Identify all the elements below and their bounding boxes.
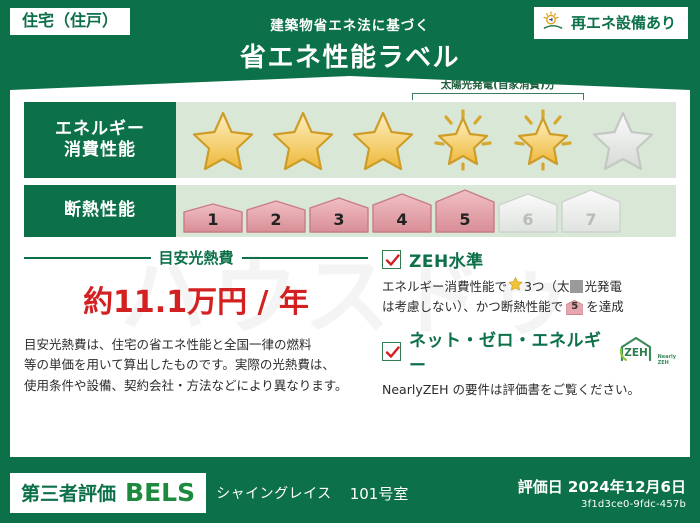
utility-cost-note-line2: 等の単価を用いて算出したものです。実際の光熱費は、 — [24, 355, 368, 375]
housing-type-badge: 住宅（住戸） — [10, 8, 130, 35]
check-icon — [385, 345, 400, 360]
content-panel: ハウスドゥ エネルギー 消費性能 太陽光発電(自家消費)分 — [10, 76, 690, 457]
zeh-standard-checkbox[interactable] — [382, 250, 401, 269]
star-3 — [344, 105, 422, 175]
utility-cost-block: 目安光熱費 約11.1万円 / 年 目安光熱費は、住宅の省エネ性能と全国一律の燃… — [24, 247, 376, 409]
energy-stars-area: 太陽光発電(自家消費)分 — [176, 102, 676, 178]
bels-badge: 第三者評価 BELS — [10, 473, 206, 513]
page-title: 省エネ性能ラベル — [0, 37, 700, 74]
insulation-scale-area: 1 2 — [176, 185, 676, 237]
insulation-performance-row: 断熱性能 1 — [24, 185, 676, 237]
zeh-house-logo-icon: ZEH — [616, 336, 656, 366]
building-name: シャイングレイス — [216, 483, 332, 503]
insulation-level-7: 7 — [560, 189, 622, 233]
utility-cost-note: 目安光熱費は、住宅の省エネ性能と全国一律の燃料 等の単価を用いて算出したものです… — [24, 335, 368, 396]
third-party-label: 第三者評価 — [21, 479, 116, 506]
energy-label-line1: エネルギー — [55, 119, 145, 140]
performance-section: エネルギー 消費性能 太陽光発電(自家消費)分 — [24, 102, 676, 237]
lower-section: 目安光熱費 約11.1万円 / 年 目安光熱費は、住宅の省エネ性能と全国一律の燃… — [24, 247, 676, 409]
star-6-empty — [584, 105, 662, 175]
insulation-level-5: 5 — [434, 189, 496, 233]
utility-cost-heading: 目安光熱費 — [24, 247, 368, 268]
inline-star-icon — [508, 276, 523, 297]
insulation-level-3-value: 3 — [333, 210, 344, 229]
star-rating — [184, 105, 662, 175]
zeh-logo-subtext: Nearly ZEH — [658, 355, 676, 366]
zeh-logo-sub-line2: ZEH — [658, 360, 669, 366]
utility-cost-note-line1: 目安光熱費は、住宅の省エネ性能と全国一律の燃料 — [24, 335, 368, 355]
inline-house-level-value: 5 — [571, 299, 578, 315]
bels-label: BELS — [125, 478, 195, 507]
net-zero-energy-head: ネット・ゼロ・エネルギー ZEH — [382, 326, 676, 376]
solar-sun-icon — [542, 11, 564, 35]
solar-annotation: 太陽光発電(自家消費)分 — [412, 80, 584, 100]
net-zero-energy-title: ネット・ゼロ・エネルギー — [409, 326, 604, 376]
solar-annotation-label: 太陽光発電(自家消費)分 — [412, 80, 584, 91]
insulation-level-1: 1 — [182, 203, 244, 233]
zeh-standard-body-a: エネルギー消費性能で — [382, 277, 507, 297]
room-number: 101号室 — [350, 483, 409, 504]
utility-cost-value: 約11.1万円 / 年 — [24, 277, 368, 321]
insulation-level-3: 3 — [308, 197, 370, 233]
inline-house-level-icon: 5 — [566, 300, 583, 315]
energy-performance-row: エネルギー 消費性能 太陽光発電(自家消費)分 — [24, 102, 676, 178]
insulation-performance-label: 断熱性能 — [24, 185, 176, 237]
insulation-level-7-value: 7 — [585, 210, 596, 229]
zeh-standard-item: ZEH水準 エネルギー消費性能で 3つ（太 — [382, 247, 676, 317]
energy-label-line2: 消費性能 — [64, 140, 136, 161]
zeh-standard-body-e: を達成 — [586, 297, 624, 317]
insulation-level-4: 4 — [371, 193, 433, 233]
heading-rule-left — [24, 257, 151, 259]
check-icon — [385, 253, 400, 268]
star-1 — [184, 105, 262, 175]
insulation-level-1-value: 1 — [207, 210, 218, 229]
utility-cost-note-line3: 使用条件や設備、契約会社・方法などにより異なります。 — [24, 376, 368, 396]
star-4-solar — [424, 105, 502, 175]
net-zero-energy-body: NearlyZEH の要件は評価書をご覧ください。 — [382, 380, 676, 400]
insulation-level-5-value: 5 — [459, 210, 470, 229]
star-5-solar — [504, 105, 582, 175]
insulation-level-2: 2 — [245, 200, 307, 233]
zeh-standard-body-d: は考慮しない）、かつ断熱性能で — [382, 297, 563, 317]
document-id: 3f1d3ce0-9fdc-457b — [518, 499, 686, 510]
insulation-level-6-value: 6 — [522, 210, 533, 229]
zeh-standard-body-b: 3つ（太 — [524, 277, 569, 297]
zeh-standard-body-c: 光発電 — [584, 277, 622, 297]
svg-text:ZEH: ZEH — [624, 347, 648, 359]
insulation-level-6: 6 — [497, 193, 559, 233]
renewable-equipment-badge: 再エネ設備あり — [534, 7, 688, 39]
zeh-block: ZEH水準 エネルギー消費性能で 3つ（太 — [376, 247, 676, 409]
evaluation-date: 評価日 2024年12月6日 — [518, 476, 686, 497]
energy-performance-label: エネルギー 消費性能 — [24, 102, 176, 178]
net-zero-energy-checkbox[interactable] — [382, 342, 401, 361]
footer-right: 評価日 2024年12月6日 3f1d3ce0-9fdc-457b — [518, 476, 686, 510]
insulation-scale: 1 2 — [182, 189, 622, 233]
star-2 — [264, 105, 342, 175]
zeh-standard-body: エネルギー消費性能で 3つ（太 光発電 — [382, 276, 676, 317]
zeh-standard-title: ZEH水準 — [409, 247, 484, 272]
heading-rule-right — [242, 257, 369, 259]
insulation-level-4-value: 4 — [396, 210, 407, 229]
footer-bar: 第三者評価 BELS シャイングレイス 101号室 評価日 2024年12月6日… — [0, 463, 700, 523]
insulation-level-2-value: 2 — [270, 210, 281, 229]
energy-label-root: 建築物省エネ法に基づく 省エネ性能ラベル 住宅（住戸） 再エネ設備あり — [0, 0, 700, 523]
net-zero-energy-item: ネット・ゼロ・エネルギー ZEH — [382, 326, 676, 400]
solar-annotation-bracket — [412, 93, 584, 100]
renewable-badge-label: 再エネ設備あり — [571, 16, 676, 31]
zeh-standard-head: ZEH水準 — [382, 247, 676, 272]
utility-cost-heading-label: 目安光熱費 — [159, 247, 234, 268]
zeh-logo: ZEH Nearly ZEH — [616, 336, 676, 366]
redaction-block — [570, 280, 583, 293]
